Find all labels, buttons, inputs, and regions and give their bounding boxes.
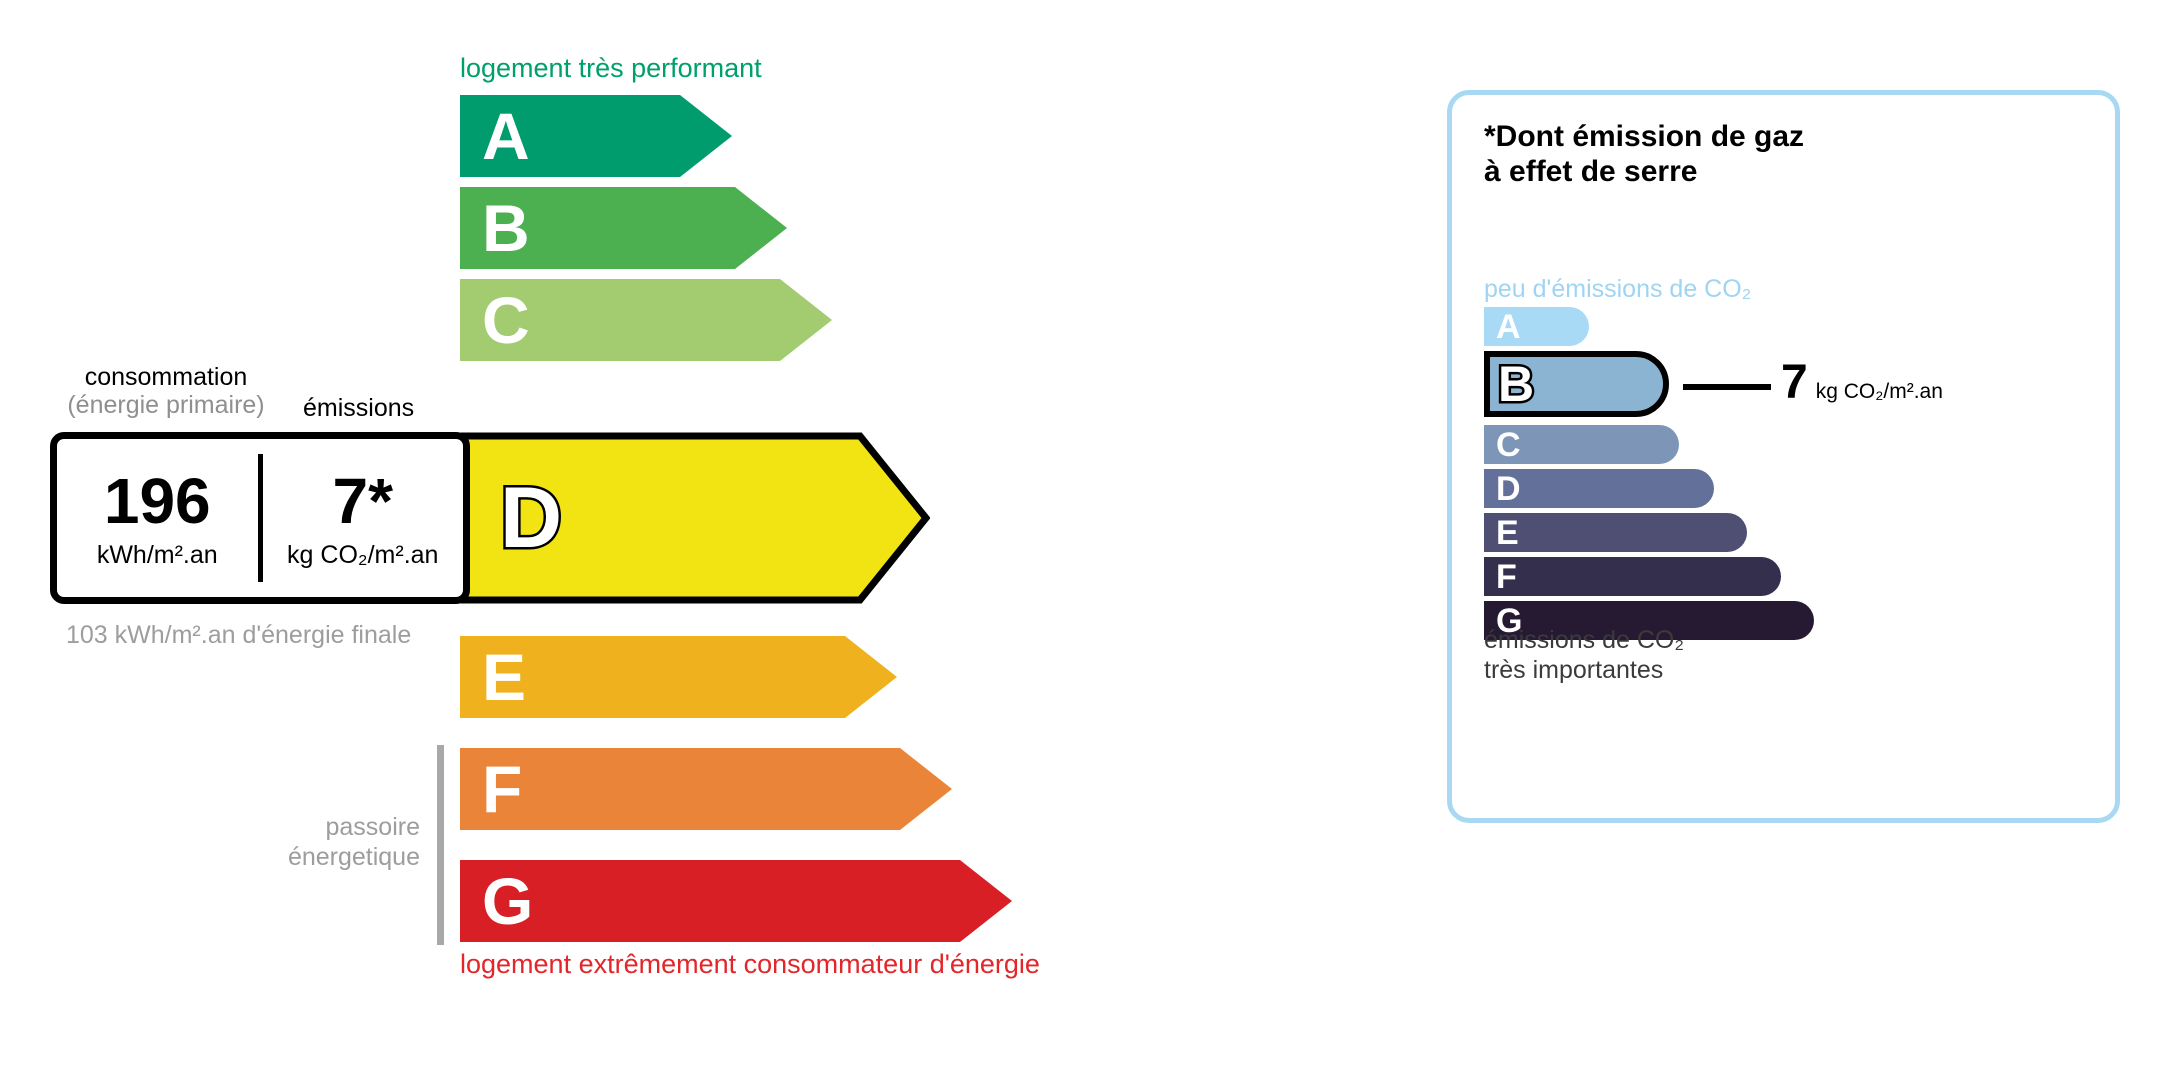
consumption-unit: kWh/m².an xyxy=(57,543,258,568)
emission-value: 7* xyxy=(263,468,464,535)
co2-class-letter: A xyxy=(1496,310,1521,344)
co2-leader-line xyxy=(1683,384,1771,390)
co2-class-bar xyxy=(1484,513,1747,552)
energy-class-letter: D xyxy=(500,475,562,561)
energy-class-letter: F xyxy=(482,756,522,822)
energy-scale-bottom-caption: logement extrêmement consommateur d'éner… xyxy=(460,951,1040,978)
co2-class-letter: F xyxy=(1496,560,1517,594)
co2-value-number: 7 xyxy=(1781,356,1808,409)
co2-class-bar xyxy=(1484,557,1781,596)
energy-class-row: A xyxy=(460,95,732,177)
co2-class-letter: B xyxy=(1498,359,1534,409)
consumption-label: consommation (énergie primaire) xyxy=(66,363,266,419)
consumption-value-cell: 196 kWh/m².an xyxy=(57,468,258,568)
passoire-label: passoire énergetique xyxy=(255,812,420,872)
co2-bottom-caption: émissions de CO₂ très importantes xyxy=(1484,625,1684,685)
energy-class-letter: G xyxy=(482,868,533,934)
energy-class-row: E xyxy=(460,636,897,718)
emission-value-cell: 7* kg CO₂/m².an xyxy=(263,468,464,568)
co2-top-caption: peu d'émissions de CO₂ xyxy=(1484,277,1751,302)
co2-class-letter: D xyxy=(1496,472,1521,506)
energy-class-row: C xyxy=(460,279,832,361)
co2-class-letter: C xyxy=(1496,428,1521,462)
co2-panel-title: *Dont émission de gaz à effet de serre xyxy=(1484,119,1804,190)
emission-unit: kg CO₂/m².an xyxy=(263,543,464,568)
co2-class-row: D xyxy=(1484,469,1714,508)
dpe-value-box: 196 kWh/m².an 7* kg CO₂/m².an xyxy=(50,432,470,604)
dpe-diagram: logement très performant ABCDEFG consomm… xyxy=(0,0,2170,1079)
energy-class-arrow xyxy=(460,748,952,830)
co2-class-letter: E xyxy=(1496,516,1519,550)
energy-class-arrow xyxy=(460,860,1012,942)
energy-class-row: B xyxy=(460,187,787,269)
emissions-label: émissions xyxy=(303,394,414,422)
co2-class-row: B xyxy=(1484,351,1669,417)
co2-class-row: A xyxy=(1484,307,1589,346)
co2-class-row: F xyxy=(1484,557,1781,596)
co2-value-callout: 7kg CO₂/m².an xyxy=(1781,359,1943,407)
consumption-label-main: consommation xyxy=(85,363,248,391)
passoire-bracket xyxy=(437,745,444,945)
energy-class-row: F xyxy=(460,748,952,830)
co2-class-row: C xyxy=(1484,425,1679,464)
energy-scale-top-caption: logement très performant xyxy=(460,55,762,82)
energy-class-row: D xyxy=(460,432,930,604)
energy-class-letter: E xyxy=(482,644,526,710)
energy-class-letter: C xyxy=(482,287,530,353)
co2-emissions-panel: *Dont émission de gaz à effet de serre p… xyxy=(1447,90,2120,823)
energy-class-row: G xyxy=(460,860,1012,942)
consumption-value: 196 xyxy=(57,468,258,535)
co2-class-row: E xyxy=(1484,513,1747,552)
final-energy-note: 103 kWh/m².an d'énergie finale xyxy=(66,620,411,650)
energy-class-letter: A xyxy=(482,103,530,169)
energy-consumption-panel: logement très performant ABCDEFG consomm… xyxy=(0,0,1400,1079)
energy-class-letter: B xyxy=(482,195,530,261)
co2-value-unit: kg CO₂/m².an xyxy=(1816,380,1943,403)
consumption-label-sub: (énergie primaire) xyxy=(66,391,266,419)
